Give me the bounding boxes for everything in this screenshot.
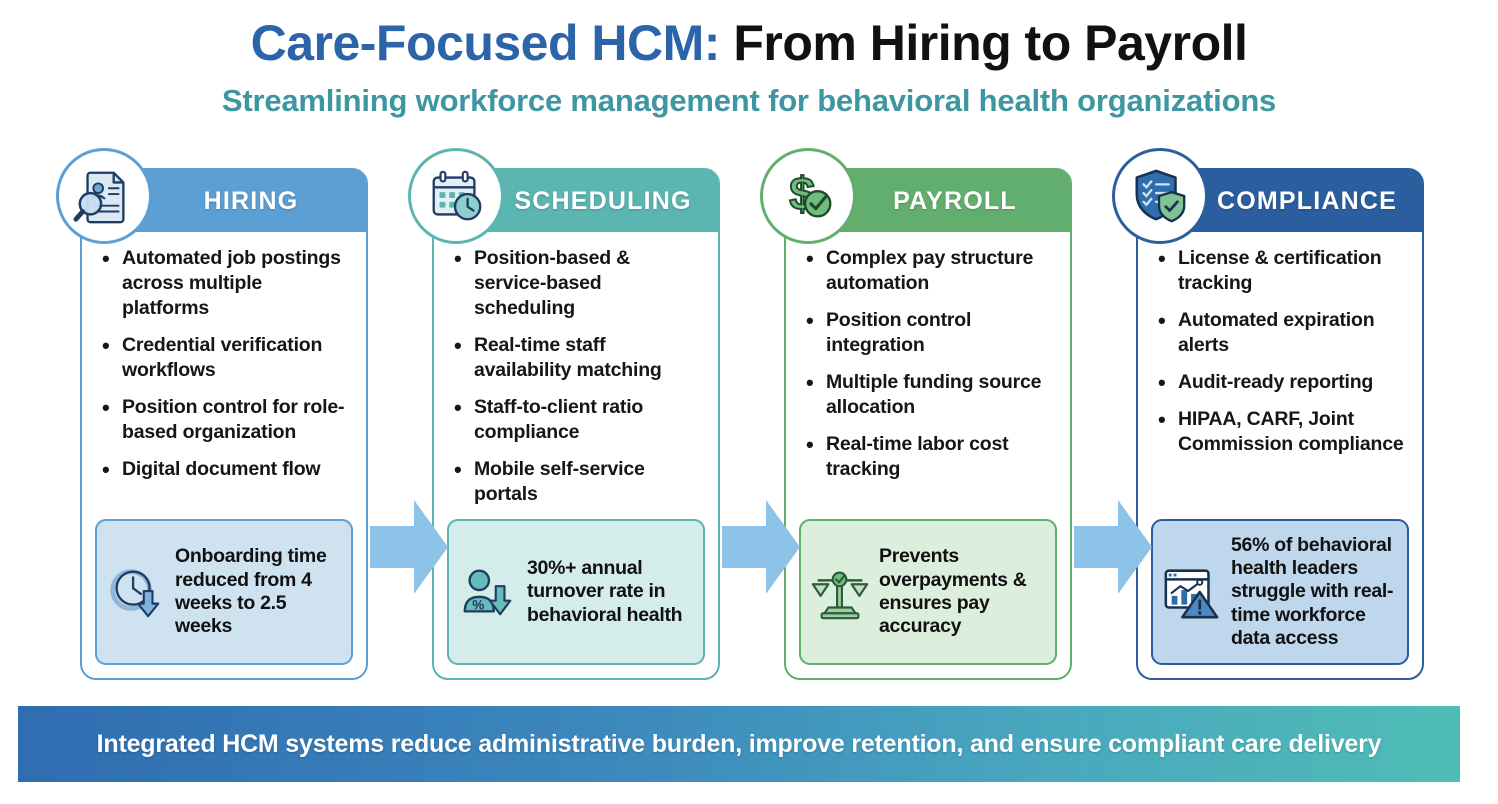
- stage-bullets-compliance: License & certification tracking Automat…: [1138, 232, 1422, 519]
- list-item: License & certification tracking: [1156, 246, 1408, 296]
- page-title-primary: Care-Focused HCM:: [251, 15, 720, 71]
- dashboard-warning-icon: [1161, 561, 1223, 623]
- shield-checklist-icon: [1112, 148, 1208, 244]
- balance-scales-check-icon: [809, 561, 871, 623]
- callout-text: 56% of behavioral health leaders struggl…: [1231, 534, 1397, 651]
- stage-card-compliance[interactable]: COMPLIANCE License & certification track…: [1136, 168, 1424, 680]
- stage-label: SCHEDULING: [514, 187, 691, 216]
- person-percent-down-arrow-icon: %: [457, 561, 519, 623]
- stage-card-scheduling[interactable]: SCHEDULING Position-based & service-base…: [432, 168, 720, 680]
- clock-down-arrow-icon: [105, 561, 167, 623]
- list-item: Position control for role-based organiza…: [100, 395, 352, 445]
- callout-text: Onboarding time reduced from 4 weeks to …: [175, 545, 341, 639]
- list-item: Real-time staff availability matching: [452, 333, 704, 383]
- stage-label: PAYROLL: [893, 187, 1017, 216]
- list-item: Automated expiration alerts: [1156, 308, 1408, 358]
- dollar-check-icon: $: [760, 148, 856, 244]
- stage-bullets-scheduling: Position-based & service-based schedulin…: [434, 232, 718, 519]
- page-title-secondary: From Hiring to Payroll: [733, 15, 1247, 71]
- page-title: Care-Focused HCM: From Hiring to Payroll: [0, 16, 1498, 71]
- stage-callout-payroll: Prevents overpayments & ensures pay accu…: [799, 519, 1057, 665]
- list-item: Credential verification workflows: [100, 333, 352, 383]
- page-subtitle: Streamlining workforce management for be…: [0, 83, 1498, 119]
- right-arrow-icon: [722, 500, 800, 594]
- calendar-clock-icon: [408, 148, 504, 244]
- stage-callout-scheduling: % 30%+ annual turnover rate in behaviora…: [447, 519, 705, 665]
- list-item: Automated job postings across multiple p…: [100, 246, 352, 321]
- stage-card-payroll[interactable]: $ PAYROLL Complex pay structure automati…: [784, 168, 1072, 680]
- list-item: Audit-ready reporting: [1156, 370, 1408, 395]
- list-item: HIPAA, CARF, Joint Commission compliance: [1156, 407, 1408, 457]
- stage-bullets-hiring: Automated job postings across multiple p…: [82, 232, 366, 519]
- stage-label: HIRING: [204, 187, 299, 216]
- list-item: Mobile self-service portals: [452, 457, 704, 507]
- list-item: Real-time labor cost tracking: [804, 432, 1056, 482]
- stage-card-hiring[interactable]: HIRING Automated job postings across mul…: [80, 168, 368, 680]
- list-item: Multiple funding source allocation: [804, 370, 1056, 420]
- svg-text:%: %: [472, 597, 484, 612]
- title-block: Care-Focused HCM: From Hiring to Payroll…: [0, 0, 1498, 119]
- right-arrow-icon: [1074, 500, 1152, 594]
- list-item: Complex pay structure automation: [804, 246, 1056, 296]
- right-arrow-icon: [370, 500, 448, 594]
- callout-text: Prevents overpayments & ensures pay accu…: [879, 545, 1045, 639]
- list-item: Digital document flow: [100, 457, 352, 482]
- stage-bullets-payroll: Complex pay structure automation Positio…: [786, 232, 1070, 519]
- callout-text: 30%+ annual turnover rate in behavioral …: [527, 557, 693, 627]
- infographic-page: Care-Focused HCM: From Hiring to Payroll…: [0, 0, 1498, 804]
- stage-columns: HIRING Automated job postings across mul…: [0, 160, 1498, 680]
- list-item: Position control integration: [804, 308, 1056, 358]
- resume-document-magnifier-icon: [56, 148, 152, 244]
- list-item: Position-based & service-based schedulin…: [452, 246, 704, 321]
- list-item: Staff-to-client ratio compliance: [452, 395, 704, 445]
- stage-label: COMPLIANCE: [1217, 187, 1397, 216]
- stage-callout-hiring: Onboarding time reduced from 4 weeks to …: [95, 519, 353, 665]
- stage-callout-compliance: 56% of behavioral health leaders struggl…: [1151, 519, 1409, 665]
- summary-banner-text: Integrated HCM systems reduce administra…: [97, 730, 1382, 759]
- summary-banner: Integrated HCM systems reduce administra…: [18, 706, 1460, 782]
